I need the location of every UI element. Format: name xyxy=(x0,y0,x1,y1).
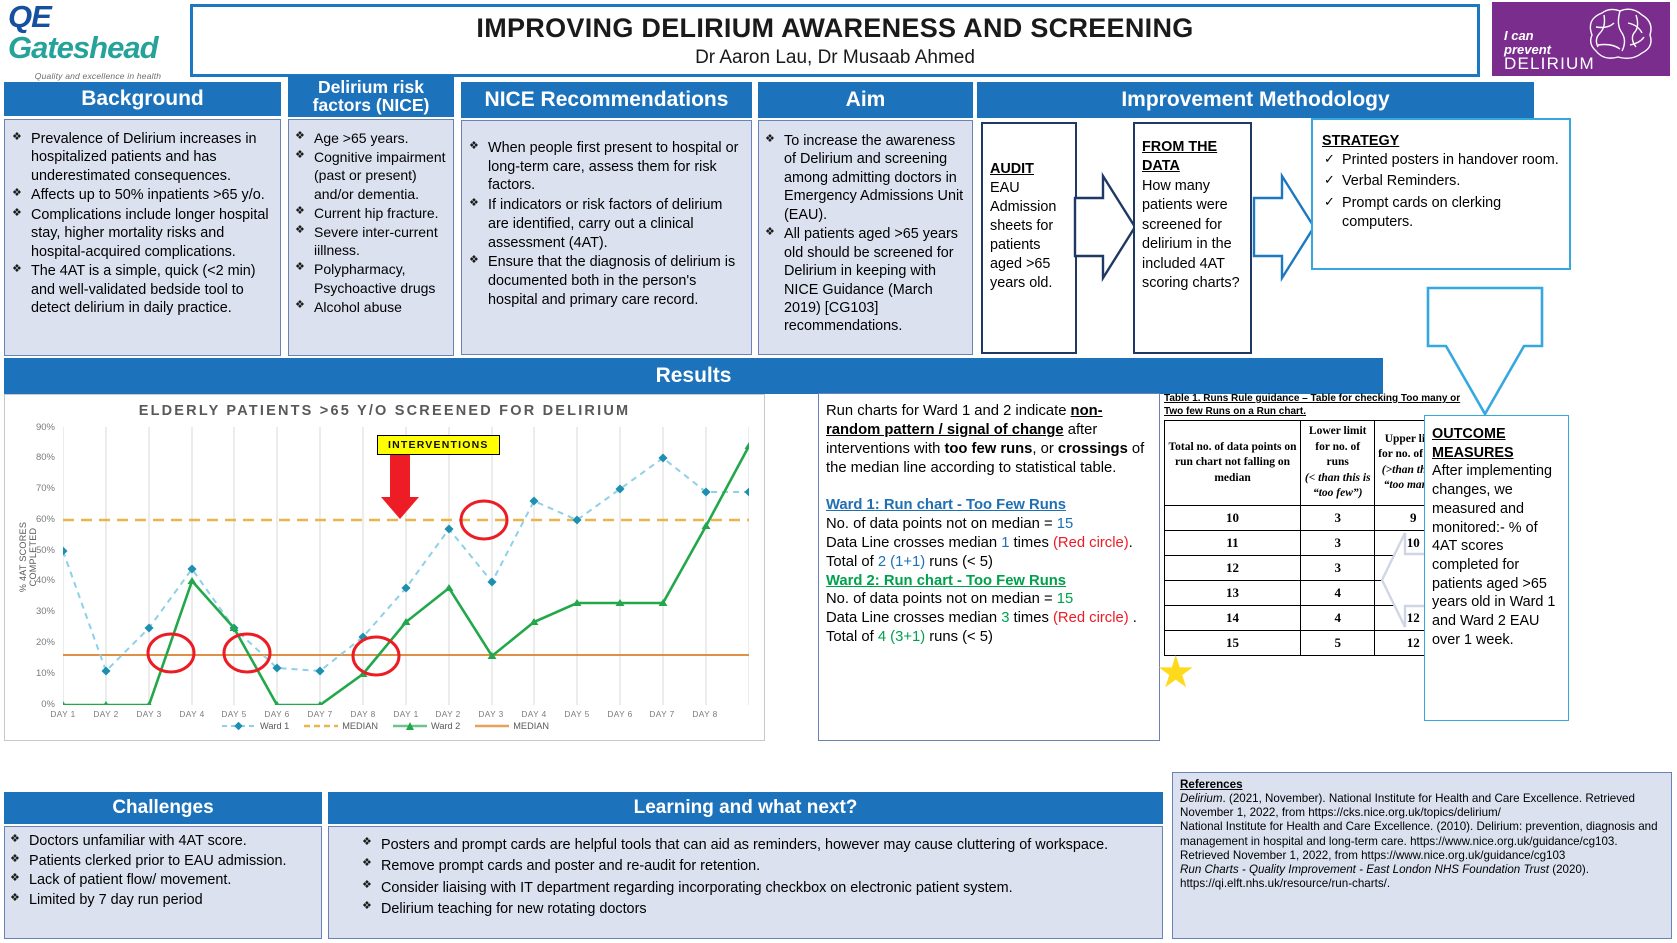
col-header-total: Total no. of data points on run chart no… xyxy=(1165,421,1301,506)
list-item: When people first present to hospital or… xyxy=(468,139,744,195)
list-item: To increase the awareness of Delirium an… xyxy=(764,132,967,224)
logo-ican-text: I can prevent xyxy=(1504,29,1551,56)
y-tick: 30% xyxy=(19,606,55,617)
ward2-line1: No. of data points not on median = 15 xyxy=(826,590,1152,609)
cell-lower: 4 xyxy=(1301,605,1375,630)
w2l2-mid: times xyxy=(1009,610,1053,626)
ward1-line1: No. of data points not on median = 15 xyxy=(826,515,1152,534)
ward1-line3: Total of 2 (1+1) runs (< 5) xyxy=(826,553,1152,572)
crossing-marker xyxy=(353,637,399,675)
cell-lower: 3 xyxy=(1301,555,1375,580)
list-item: Complications include longer hospital st… xyxy=(11,206,274,261)
ward1-heading: Ward 1: Run chart - Too Few Runs xyxy=(826,496,1152,515)
aim-list: To increase the awareness of Delirium an… xyxy=(764,132,967,336)
legend-swatch-ward2 xyxy=(393,721,427,731)
reference-entry: National Institute for Health and Care E… xyxy=(1180,820,1664,862)
x-tick: DAY 5 xyxy=(555,709,599,719)
from-the-data-title: FROM THE DATA xyxy=(1142,138,1245,177)
author-line: Dr Aaron Lau, Dr Musaab Ahmed xyxy=(695,47,975,69)
arrow-data-to-strategy-icon xyxy=(1252,168,1318,286)
x-tick: DAY 2 xyxy=(84,709,128,719)
legend-swatch-median1 xyxy=(304,721,338,731)
ref2-rest: National Institute for Health and Care E… xyxy=(1180,820,1658,861)
table-header-row: Total no. of data points on run chart no… xyxy=(1165,421,1452,506)
list-item: Alcohol abuse xyxy=(294,298,448,316)
cell-lower: 4 xyxy=(1301,580,1375,605)
list-item: Delirium teaching for new rotating docto… xyxy=(361,899,1154,919)
reference-entry: Delirium. (2021, November). National Ins… xyxy=(1180,792,1664,820)
references-title: References xyxy=(1180,778,1664,792)
legend-label: Ward 1 xyxy=(260,721,289,731)
legend-item-median1: MEDIAN xyxy=(304,721,378,731)
cell-total: 11 xyxy=(1165,530,1301,555)
poster-header: QE Gateshead Quality and excellence in h… xyxy=(0,0,1677,82)
ref3-italic: Run Charts - Quality Improvement - East … xyxy=(1180,863,1549,876)
x-tick: DAY 7 xyxy=(640,709,684,719)
cell-total: 10 xyxy=(1165,505,1301,530)
w2l3-val: 4 (3+1) xyxy=(878,629,925,645)
strategy-title: STRATEGY xyxy=(1322,132,1563,151)
logo-word-qe: QE xyxy=(8,0,51,34)
star-highlight-icon: ★ xyxy=(1156,651,1195,695)
w1l3-pre: Total of xyxy=(826,554,878,570)
y-tick: 40% xyxy=(19,575,55,586)
cell-lower: 5 xyxy=(1301,630,1375,655)
background-body: Prevalence of Delirium increases in hosp… xyxy=(4,119,281,356)
legend-item-median2: MEDIAN xyxy=(475,721,549,731)
list-item: Age >65 years. xyxy=(294,129,448,147)
legend-swatch-ward1 xyxy=(222,721,256,731)
risk-factors-heading: Delirium risk factors (NICE) xyxy=(288,75,454,117)
w2l1-pre: No. of data points not on median = xyxy=(826,591,1057,607)
background-list: Prevalence of Delirium increases in hosp… xyxy=(11,130,274,317)
x-tick: DAY 8 xyxy=(683,709,727,719)
list-item: Remove prompt cards and poster and re-au… xyxy=(361,856,1154,876)
run-chart: ELDERLY PATIENTS >65 Y/O SCREENED FOR DE… xyxy=(4,394,765,741)
title-box: IMPROVING DELIRIUM AWARENESS AND SCREENI… xyxy=(190,4,1480,77)
w2l3-post: runs (< 5) xyxy=(925,629,993,645)
x-tick: DAY 2 xyxy=(426,709,470,719)
logo-word-gateshead: Gateshead xyxy=(8,30,158,65)
x-tick: DAY 7 xyxy=(298,709,342,719)
ref1-italic: Delirium xyxy=(1180,792,1223,805)
poster-root: QE Gateshead Quality and excellence in h… xyxy=(0,0,1677,943)
x-tick: DAY 3 xyxy=(469,709,513,719)
x-tick: DAY 1 xyxy=(41,709,85,719)
results-heading: Results xyxy=(4,358,1383,394)
results-paragraph: Run charts for Ward 1 and 2 indicate non… xyxy=(826,402,1152,478)
list-item: Posters and prompt cards are helpful too… xyxy=(361,835,1154,855)
nice-body: When people first present to hospital or… xyxy=(461,120,752,355)
intervention-annotation: INTERVENTIONS xyxy=(377,435,500,455)
rt-e: , or xyxy=(1032,441,1058,457)
y-tick: 50% xyxy=(19,545,55,556)
list-item: Lack of patient flow/ movement. xyxy=(9,871,316,890)
rt-f: crossings xyxy=(1058,441,1128,457)
table-row-highlighted: 15 5 12 xyxy=(1165,630,1452,655)
y-tick: 70% xyxy=(19,483,55,494)
challenges-list: Doctors unfamiliar with 4AT score. Patie… xyxy=(9,832,316,910)
strategy-box: STRATEGY Printed posters in handover roo… xyxy=(1311,118,1571,270)
list-item: Doctors unfamiliar with 4AT score. xyxy=(9,832,316,851)
rt-a: Run charts for Ward 1 and 2 indicate xyxy=(826,403,1071,419)
legend-item-ward1: Ward 1 xyxy=(222,721,289,731)
list-item: Current hip fracture. xyxy=(294,204,448,222)
x-tick: DAY 6 xyxy=(598,709,642,719)
logo-delirium-word: DELIRIUM xyxy=(1504,54,1595,74)
list-item: Polypharmacy, Psychoactive drugs xyxy=(294,260,448,296)
audit-text: EAU Admission sheets for patients aged >… xyxy=(990,179,1069,293)
nice-heading: NICE Recommendations xyxy=(461,82,752,118)
x-tick: DAY 3 xyxy=(127,709,171,719)
aim-body: To increase the awareness of Delirium an… xyxy=(758,120,973,355)
list-item: Consider liaising with IT department reg… xyxy=(361,878,1154,898)
background-heading: Background xyxy=(4,82,281,116)
col-header-lower-sub: (< than this is “too few”) xyxy=(1303,471,1372,502)
references-box: References Delirium. (2021, November). N… xyxy=(1172,772,1672,939)
learning-list: Posters and prompt cards are helpful too… xyxy=(361,835,1154,920)
nice-list: When people first present to hospital or… xyxy=(468,139,744,309)
w2l2-red: (Red circle) xyxy=(1053,610,1129,626)
learning-body: Posters and prompt cards are helpful too… xyxy=(328,826,1163,939)
list-item: Affects up to 50% inpatients >65 y/o. xyxy=(11,186,274,204)
legend-label: MEDIAN xyxy=(513,721,549,731)
outcome-text: After implementing changes, we measured … xyxy=(1432,462,1561,649)
arrow-audit-to-data-icon xyxy=(1073,168,1139,286)
methodology-heading: Improvement Methodology xyxy=(977,82,1534,118)
x-tick: DAY 6 xyxy=(255,709,299,719)
y-tick: 10% xyxy=(19,668,55,679)
legend-label: Ward 2 xyxy=(431,721,460,731)
w2l3-pre: Total of xyxy=(826,629,878,645)
w1l3-post: runs (< 5) xyxy=(925,554,993,570)
cell-total: 12 xyxy=(1165,555,1301,580)
from-the-data-box: FROM THE DATA How many patients were scr… xyxy=(1133,122,1252,354)
w2l2-pre: Data Line crosses median xyxy=(826,610,1001,626)
col-header-lower: Lower limit for no. of runs (< than this… xyxy=(1301,421,1375,506)
list-item: Limited by 7 day run period xyxy=(9,891,316,910)
qe-gateshead-logo: QE Gateshead Quality and excellence in h… xyxy=(8,4,188,78)
logo-tagline: Quality and excellence in health xyxy=(35,71,161,81)
col-header-lower-main: Lower limit for no. of runs xyxy=(1309,425,1367,468)
aim-heading: Aim xyxy=(758,82,973,118)
chart-title: ELDERLY PATIENTS >65 Y/O SCREENED FOR DE… xyxy=(5,403,764,419)
ward2-heading: Ward 2: Run chart - Too Few Runs xyxy=(826,572,1152,591)
cell-total: 13 xyxy=(1165,580,1301,605)
from-the-data-text: How many patients were screened for deli… xyxy=(1142,177,1245,294)
w1l2-red: (Red circle) xyxy=(1053,535,1129,551)
reference-entry: Run Charts - Quality Improvement - East … xyxy=(1180,863,1664,891)
list-item: Verbal Reminders. xyxy=(1322,172,1563,191)
list-item: Prompt cards on clerking computers. xyxy=(1322,194,1563,231)
x-tick: DAY 8 xyxy=(341,709,385,719)
y-tick: 90% xyxy=(19,422,55,433)
list-item: Printed posters in handover room. xyxy=(1322,151,1563,170)
chart-plot-area xyxy=(63,427,749,705)
legend-item-ward2: Ward 2 xyxy=(393,721,460,731)
list-item: Prevalence of Delirium increases in hosp… xyxy=(11,130,274,185)
chart-legend: Ward 1 MEDIAN Ward 2 MEDIAN xyxy=(5,721,766,731)
list-item: All patients aged >65 years old should b… xyxy=(764,225,967,336)
list-item: Cognitive impairment (past or present) a… xyxy=(294,148,448,203)
w1l2-pre: Data Line crosses median xyxy=(826,535,1001,551)
intervention-arrow-icon xyxy=(381,455,419,519)
y-tick: 80% xyxy=(19,452,55,463)
table-row: 10 3 9 xyxy=(1165,505,1452,530)
w1l1-val: 15 xyxy=(1057,516,1073,532)
ward1-line2: Data Line crosses median 1 times (Red ci… xyxy=(826,534,1152,553)
x-tick: DAY 1 xyxy=(384,709,428,719)
outcome-measures-box: OUTCOME MEASURES After implementing chan… xyxy=(1424,415,1569,721)
list-item: The 4AT is a simple, quick (<2 min) and … xyxy=(11,262,274,317)
y-tick: 20% xyxy=(19,637,55,648)
list-item: If indicators or risk factors of deliriu… xyxy=(468,196,744,252)
cell-total: 14 xyxy=(1165,605,1301,630)
list-item: Severe inter-current iillness. xyxy=(294,223,448,259)
w1l3-val: 2 (1+1) xyxy=(878,554,925,570)
outcome-title: OUTCOME MEASURES xyxy=(1432,425,1561,462)
legend-swatch-median2 xyxy=(475,721,509,731)
i-can-prevent-delirium-logo: I can prevent DELIRIUM xyxy=(1492,2,1670,76)
results-commentary: Run charts for Ward 1 and 2 indicate non… xyxy=(818,393,1160,741)
learning-heading: Learning and what next? xyxy=(328,792,1163,824)
x-tick: DAY 4 xyxy=(170,709,214,719)
legend-label: MEDIAN xyxy=(342,721,378,731)
risk-factors-body: Age >65 years. Cognitive impairment (pas… xyxy=(288,119,454,356)
list-item: Ensure that the diagnosis of delirium is… xyxy=(468,253,744,309)
cell-lower: 3 xyxy=(1301,505,1375,530)
audit-box: AUDIT EAU Admission sheets for patients … xyxy=(981,122,1077,354)
strategy-list: Printed posters in handover room. Verbal… xyxy=(1322,151,1563,232)
risk-factors-list: Age >65 years. Cognitive impairment (pas… xyxy=(294,129,448,316)
x-tick: DAY 4 xyxy=(512,709,556,719)
cell-lower: 3 xyxy=(1301,530,1375,555)
w1l2-mid: times xyxy=(1009,535,1053,551)
ward2-line3: Total of 4 (3+1) runs (< 5) xyxy=(826,628,1152,647)
x-tick: DAY 5 xyxy=(212,709,256,719)
challenges-body: Doctors unfamiliar with 4AT score. Patie… xyxy=(4,826,322,939)
spacer xyxy=(826,478,1152,496)
ref1-rest: . (2021, November). National Institute f… xyxy=(1180,792,1635,819)
list-item: Patients clerked prior to EAU admission. xyxy=(9,852,316,871)
y-tick: 60% xyxy=(19,514,55,525)
w2l1-val: 15 xyxy=(1057,591,1073,607)
audit-title: AUDIT xyxy=(990,160,1069,179)
w1l1-pre: No. of data points not on median = xyxy=(826,516,1057,532)
ward2-line2: Data Line crosses median 3 times (Red ci… xyxy=(826,609,1152,628)
challenges-heading: Challenges xyxy=(4,792,322,824)
page-title: IMPROVING DELIRIUM AWARENESS AND SCREENI… xyxy=(476,13,1193,44)
rt-d: too few runs xyxy=(944,441,1032,457)
